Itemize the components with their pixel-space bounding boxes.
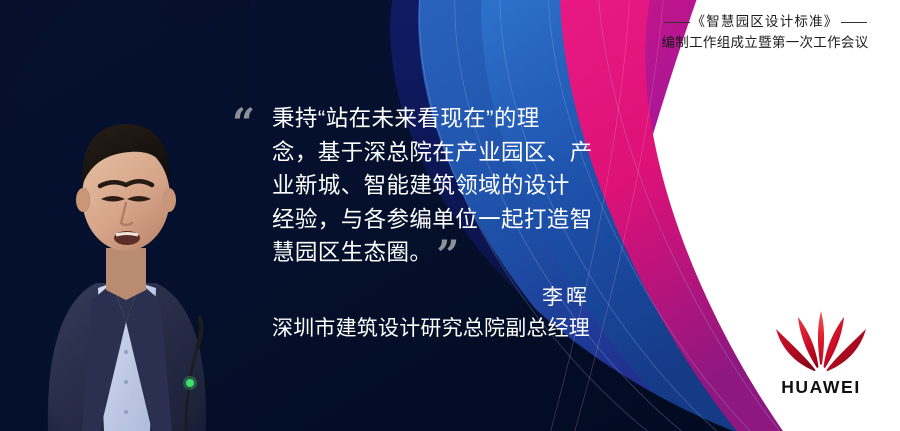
header-title-line: 《智慧园区设计标准》 bbox=[640, 12, 890, 32]
quote-block: “ 秉持“站在未来看现在”的理 念，基于深总院在产业园区、产 业新城、智能建筑领… bbox=[232, 102, 602, 270]
quote-line-text: 慧园区生态圈。 bbox=[272, 240, 432, 265]
header-rule-right bbox=[841, 22, 867, 23]
quote-line: 慧园区生态圈。” bbox=[272, 236, 602, 270]
speaker-title: 深圳市建筑设计研究总院副总经理 bbox=[200, 313, 590, 345]
speaker-portrait bbox=[0, 0, 250, 431]
quote-line: 业新城、智能建筑领域的设计 bbox=[272, 169, 602, 203]
huawei-flower-icon bbox=[762, 305, 880, 375]
header-subtitle: 编制工作组成立暨第一次工作会议 bbox=[640, 33, 890, 53]
quote-text: 秉持“站在未来看现在”的理 念，基于深总院在产业园区、产 业新城、智能建筑领域的… bbox=[272, 102, 602, 270]
quote-line: 秉持“站在未来看现在”的理 bbox=[272, 102, 602, 136]
huawei-wordmark: HUAWEI bbox=[762, 377, 880, 398]
slide-header: 《智慧园区设计标准》 编制工作组成立暨第一次工作会议 bbox=[640, 12, 890, 52]
quote-line: 念，基于深总院在产业园区、产 bbox=[272, 136, 602, 170]
header-rule-left bbox=[664, 22, 690, 23]
speaker-name: 李晖 bbox=[200, 283, 590, 313]
header-title: 《智慧园区设计标准》 bbox=[692, 14, 839, 29]
attribution-block: 李晖 深圳市建筑设计研究总院副总经理 bbox=[200, 283, 590, 345]
presentation-slide: 《智慧园区设计标准》 编制工作组成立暨第一次工作会议 “ 秉持“站在未来看现在”… bbox=[0, 0, 900, 431]
quote-line: 经验，与各参编单位一起打造智 bbox=[272, 203, 602, 237]
huawei-logo: HUAWEI bbox=[762, 305, 880, 398]
